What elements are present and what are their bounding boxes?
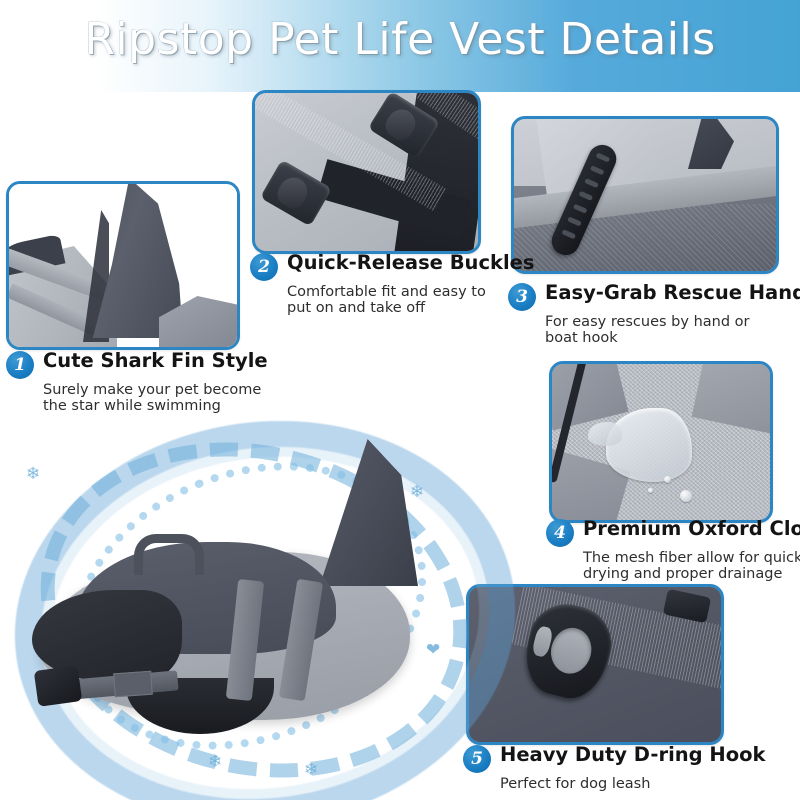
buckle-icon — [260, 159, 332, 226]
callout-title-1: Cute Shark Fin Style — [43, 350, 268, 371]
callout-badge-2: 2 — [250, 253, 278, 281]
water-droplet-icon — [606, 408, 692, 482]
callout-4: 4 Premium Oxford Cloth The mesh fiber al… — [546, 518, 800, 582]
callout-description-3: For easy rescues by hand or boat hook — [545, 314, 800, 346]
fish-icon: ❤ — [426, 640, 440, 660]
page-title: Ripstop Pet Life Vest Details — [0, 14, 800, 65]
callout-3: 3 Easy-Grab Rescue Handle For easy rescu… — [508, 282, 800, 346]
callout-description-5: Perfect for dog leash — [500, 776, 765, 792]
infographic-canvas: Ripstop Pet Life Vest Details — [0, 0, 800, 800]
callout-5: 5 Heavy Duty D-ring Hook Perfect for dog… — [463, 744, 765, 792]
callout-badge-4: 4 — [546, 519, 574, 547]
fish-icon: ❄ — [304, 760, 318, 780]
callout-1: 1 Cute Shark Fin Style Surely make your … — [6, 350, 268, 414]
fish-icon: ❄ — [208, 752, 222, 772]
callout-description-4: The mesh fiber allow for quick drying an… — [583, 550, 800, 582]
handle-icon — [134, 534, 204, 575]
hero-product-image: ❄ ❄ ❤ ❄ ❄ — [8, 408, 478, 788]
callout-badge-5: 5 — [463, 745, 491, 773]
oxford-cloth-illustration — [552, 364, 770, 520]
callout-title-5: Heavy Duty D-ring Hook — [500, 744, 765, 765]
callout-title-3: Easy-Grab Rescue Handle — [545, 282, 800, 303]
buckle-icon — [34, 665, 83, 707]
callout-badge-1: 1 — [6, 351, 34, 379]
shark-fin-illustration — [9, 184, 237, 347]
callout-2: 2 Quick-Release Buckles Comfortable fit … — [250, 252, 534, 316]
rescue-handle-illustration — [514, 119, 776, 271]
pet-life-vest-product — [30, 528, 420, 728]
buckles-illustration — [255, 93, 478, 251]
callout-description-1: Surely make your pet become the star whi… — [43, 382, 268, 414]
header-banner: Ripstop Pet Life Vest Details — [0, 0, 800, 92]
callout-title-4: Premium Oxford Cloth — [583, 518, 800, 539]
feature-photo-rescue-handle — [511, 116, 779, 274]
feature-photo-shark-fin — [6, 181, 240, 350]
feature-photo-buckles — [252, 90, 481, 254]
callout-badge-3: 3 — [508, 283, 536, 311]
fish-icon: ❄ — [410, 482, 424, 502]
callout-title-2: Quick-Release Buckles — [287, 252, 534, 273]
callout-description-2: Comfortable fit and easy to put on and t… — [287, 284, 534, 316]
feature-photo-oxford-cloth — [549, 361, 773, 523]
fish-icon: ❄ — [26, 464, 40, 484]
